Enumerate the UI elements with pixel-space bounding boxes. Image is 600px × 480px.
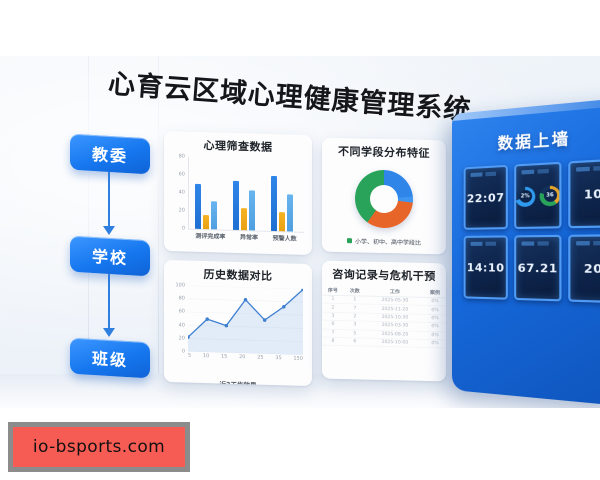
screen-header-bar: [521, 169, 553, 175]
y-tick-label: 20: [179, 207, 185, 213]
x-tick-label: 25: [257, 355, 263, 361]
screen-header-bar: [576, 241, 600, 246]
table-column-header: 序号: [322, 285, 344, 296]
donut-chart-legend: 小学、初中、高中学段比: [322, 236, 446, 248]
x-tick-label: 5: [188, 353, 191, 359]
flow-node-banji: 班级: [70, 338, 150, 379]
bar: [249, 191, 255, 231]
y-tick-label: 100: [175, 282, 185, 288]
gauge-value: 2%: [521, 193, 530, 200]
screen-header-bar: [470, 242, 500, 246]
y-tick-label: 80: [179, 296, 185, 302]
bar-chart-plot: 020406080 测评完成率异常率预警人数: [170, 156, 306, 246]
flow-arrow-line: [108, 172, 110, 228]
data-wall-panel: 数据上墙 22:072%361014:1067.2120: [452, 98, 600, 406]
bar-group: [233, 181, 255, 230]
gauge-group: 2%36: [515, 185, 560, 207]
records-table: 序号次数工作案例 112025-05-300%272025-11-200%322…: [322, 285, 446, 349]
table-cell: 0%: [424, 339, 446, 348]
org-flow-diagram: 教委 学校 班级: [62, 136, 158, 386]
x-tick-label: 10: [203, 353, 209, 359]
x-tick-label: 150: [293, 356, 303, 362]
screen-value: 22:07: [467, 190, 505, 205]
wall-screen: 67.21: [514, 235, 561, 302]
table-cell: 2025-10-00: [366, 338, 424, 348]
x-tick-label: 测评完成率: [195, 231, 225, 241]
gauge-value: 36: [546, 192, 554, 199]
table-row: 862025-10-000%: [322, 337, 446, 348]
gauge-ring: 36: [540, 185, 561, 206]
flow-arrow-head-icon: [103, 226, 115, 235]
wall-screen: 10: [568, 158, 600, 228]
url-badge: io-bsports.com: [13, 427, 185, 467]
wall-screen: 20: [568, 234, 600, 303]
x-tick-label: 预警人数: [273, 233, 297, 243]
donut-chart-plot: [322, 161, 446, 238]
y-tick-label: 20: [179, 335, 185, 341]
y-tick-label: 40: [179, 322, 185, 328]
flow-arrow-line: [108, 274, 110, 330]
card-stage-distribution-donut: 不同学段分布特征 小学、初中、高中学段比: [322, 138, 446, 255]
y-tick-label: 0: [182, 348, 185, 354]
bar-chart-bars: [188, 157, 304, 233]
legend-label: 小学、初中、高中学段比: [355, 236, 421, 246]
screen-header-bar: [521, 241, 553, 245]
table-column-header: 案例: [424, 287, 446, 298]
donut-chart-title: 不同学段分布特征: [322, 138, 446, 162]
bar: [211, 201, 217, 229]
flow-arrow-head-icon: [103, 328, 115, 337]
table-cell: 8: [322, 337, 344, 346]
bar-group: [271, 176, 293, 232]
table-column-header: 次数: [344, 285, 366, 296]
screen-value: 20: [584, 261, 600, 275]
card-consult-records-table: 咨询记录与危机干预 序号次数工作案例 112025-05-300%272025-…: [322, 261, 446, 382]
flow-node-jiaowei: 教委: [70, 134, 150, 175]
donut-ring: [355, 169, 413, 228]
x-tick-label: 异常率: [240, 232, 258, 242]
bar: [271, 176, 277, 231]
url-badge-frame: io-bsports.com: [8, 422, 190, 472]
y-tick-label: 60: [179, 309, 185, 315]
bar: [241, 208, 247, 230]
bar: [287, 194, 293, 231]
wall-screen: 14:10: [464, 235, 508, 299]
y-tick-label: 0: [182, 225, 185, 231]
table-title: 咨询记录与危机干预: [322, 261, 446, 285]
line-chart-yaxis: 020406080100: [170, 285, 186, 357]
table-cell: 6: [344, 337, 366, 346]
line-chart-svg: [188, 286, 303, 355]
bar: [279, 212, 285, 231]
y-tick-label: 60: [179, 171, 185, 177]
line-chart-series: [188, 286, 303, 355]
legend-swatch-icon: [347, 238, 352, 243]
y-tick-label: 80: [179, 153, 185, 159]
gauge-ring: 2%: [515, 186, 535, 207]
screen-header-bar: [576, 166, 600, 172]
bar-chart-yaxis: 020406080: [170, 156, 186, 228]
bar-chart-title: 心理筛查数据: [164, 131, 312, 156]
x-tick-label: 20: [239, 354, 245, 360]
table-body: 112025-05-300%272025-11-200%322025-10-30…: [322, 295, 446, 348]
x-tick-label: 15: [221, 354, 227, 360]
wall-seam: [158, 56, 159, 408]
screenshot-stage: 心育云区域心理健康管理系统 教委 学校 班级 心理筛查数据 020406080 …: [0, 0, 600, 480]
x-tick-label: 35: [275, 355, 281, 361]
line-chart-title: 历史数据对比: [164, 260, 312, 285]
card-screening-bar-chart: 心理筛查数据 020406080 测评完成率异常率预警人数: [164, 131, 312, 255]
screen-value: 10: [584, 186, 600, 201]
wall-screen: 22:07: [464, 165, 508, 230]
data-wall-screen-grid: 22:072%361014:1067.2120: [464, 158, 600, 303]
bar-chart-xlabels: 测评完成率异常率预警人数: [188, 231, 304, 243]
bar: [203, 215, 209, 230]
bar: [195, 184, 201, 229]
y-tick-label: 40: [179, 189, 185, 195]
screen-value: 67.21: [518, 261, 558, 275]
screen-header-bar: [470, 171, 500, 177]
bar-group: [195, 184, 217, 230]
screen-value: 14:10: [467, 261, 505, 275]
flow-node-xuexiao: 学校: [70, 236, 150, 277]
line-chart-plot: 020406080100 51015202535150: [170, 285, 306, 375]
exhibition-wall-photo: 心育云区域心理健康管理系统 教委 学校 班级 心理筛查数据 020406080 …: [0, 56, 600, 408]
bar: [233, 181, 239, 230]
card-history-line-chart: 历史数据对比 020406080100 51015202535150 近3工作效…: [164, 260, 312, 386]
data-wall-title: 数据上墙: [452, 122, 600, 157]
wall-screen: 2%36: [514, 162, 561, 229]
